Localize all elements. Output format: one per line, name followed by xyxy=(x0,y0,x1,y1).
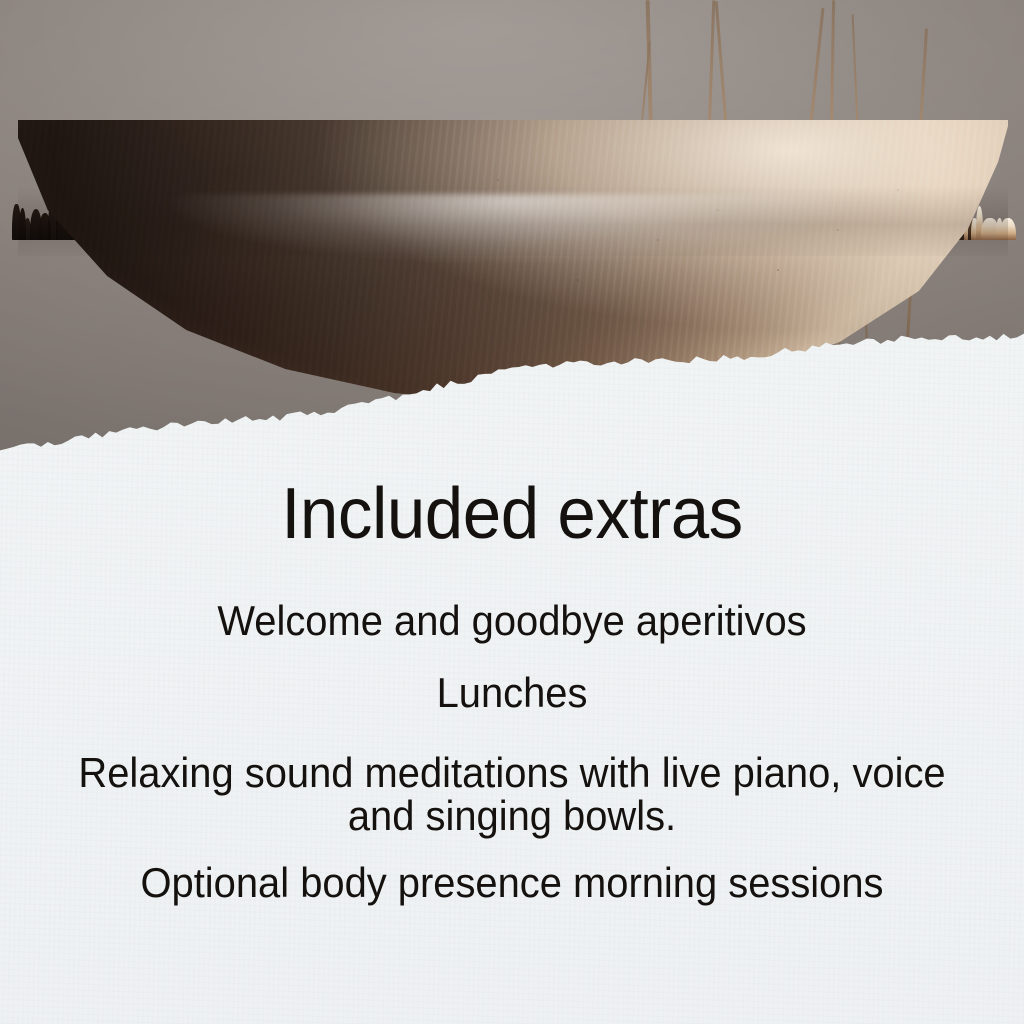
text-block: Included extras Welcome and goodbye aper… xyxy=(0,0,1024,1024)
list-item: Welcome and goodbye aperitivos xyxy=(26,600,999,643)
page-title: Included extras xyxy=(20,478,1003,550)
list-item-line-2: and singing bowls. xyxy=(26,795,999,838)
list-item: Relaxing sound meditations with live pia… xyxy=(26,752,999,838)
list-item: Lunches xyxy=(26,672,999,715)
list-item: Optional body presence morning sessions xyxy=(26,862,999,905)
list-item-line-1: Relaxing sound meditations with live pia… xyxy=(78,749,945,796)
poster-canvas: Included extras Welcome and goodbye aper… xyxy=(0,0,1024,1024)
